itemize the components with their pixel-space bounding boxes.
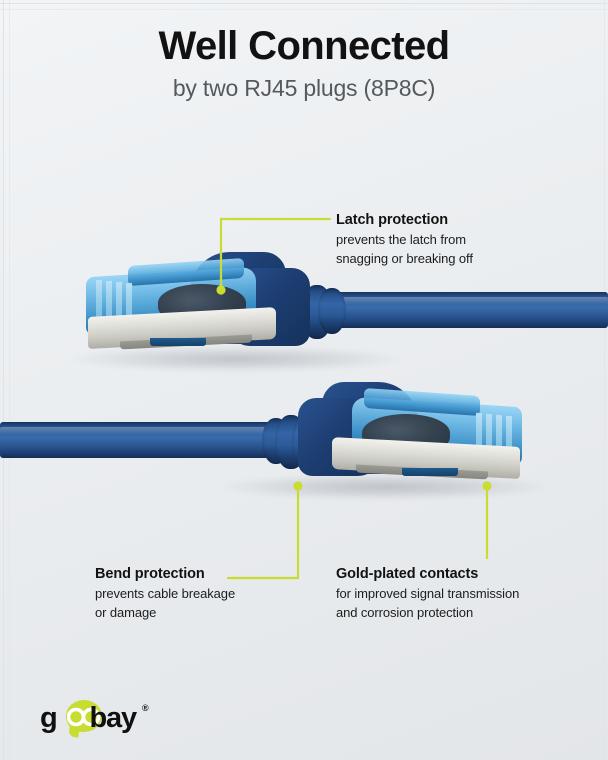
top-shield-notch (150, 338, 206, 346)
logo-registered-mark: ® (142, 703, 149, 713)
bottom-shield-notch (402, 468, 458, 476)
callout-gold-title: Gold-plated contacts (336, 566, 519, 582)
product-illustration (0, 0, 608, 760)
logo-text-after: bay (90, 702, 136, 734)
infographic-canvas: Well Connected by two RJ45 plugs (8P8C) (0, 0, 608, 760)
top-plug-shadow (70, 346, 400, 372)
callout-bend-protection: Bend protection prevents cable breakage … (95, 566, 235, 622)
callout-latch-line-1: prevents the latch from (336, 231, 473, 250)
callout-latch-line-2: snagging or breaking off (336, 250, 473, 269)
callout-latch-title: Latch protection (336, 212, 473, 228)
callout-gold-line-2: and corrosion protection (336, 604, 519, 623)
callout-gold-plated-contacts: Gold-plated contacts for improved signal… (336, 566, 519, 622)
callout-bend-title: Bend protection (95, 566, 235, 582)
callout-bend-line-2: or damage (95, 604, 235, 623)
callout-latch-protection: Latch protection prevents the latch from… (336, 212, 473, 268)
bottom-cable-highlight (0, 427, 282, 435)
callout-bend-line-1: prevents cable breakage (95, 585, 235, 604)
top-contact-fin (96, 280, 102, 320)
callout-gold-line-1: for improved signal transmission (336, 585, 519, 604)
logo-text-oo: oo (57, 702, 90, 734)
goobay-logo: goobay ® (40, 702, 136, 734)
logo-text-before: g (40, 702, 57, 734)
logo-wordmark: goobay (40, 702, 136, 734)
top-cable-highlight (330, 297, 608, 305)
